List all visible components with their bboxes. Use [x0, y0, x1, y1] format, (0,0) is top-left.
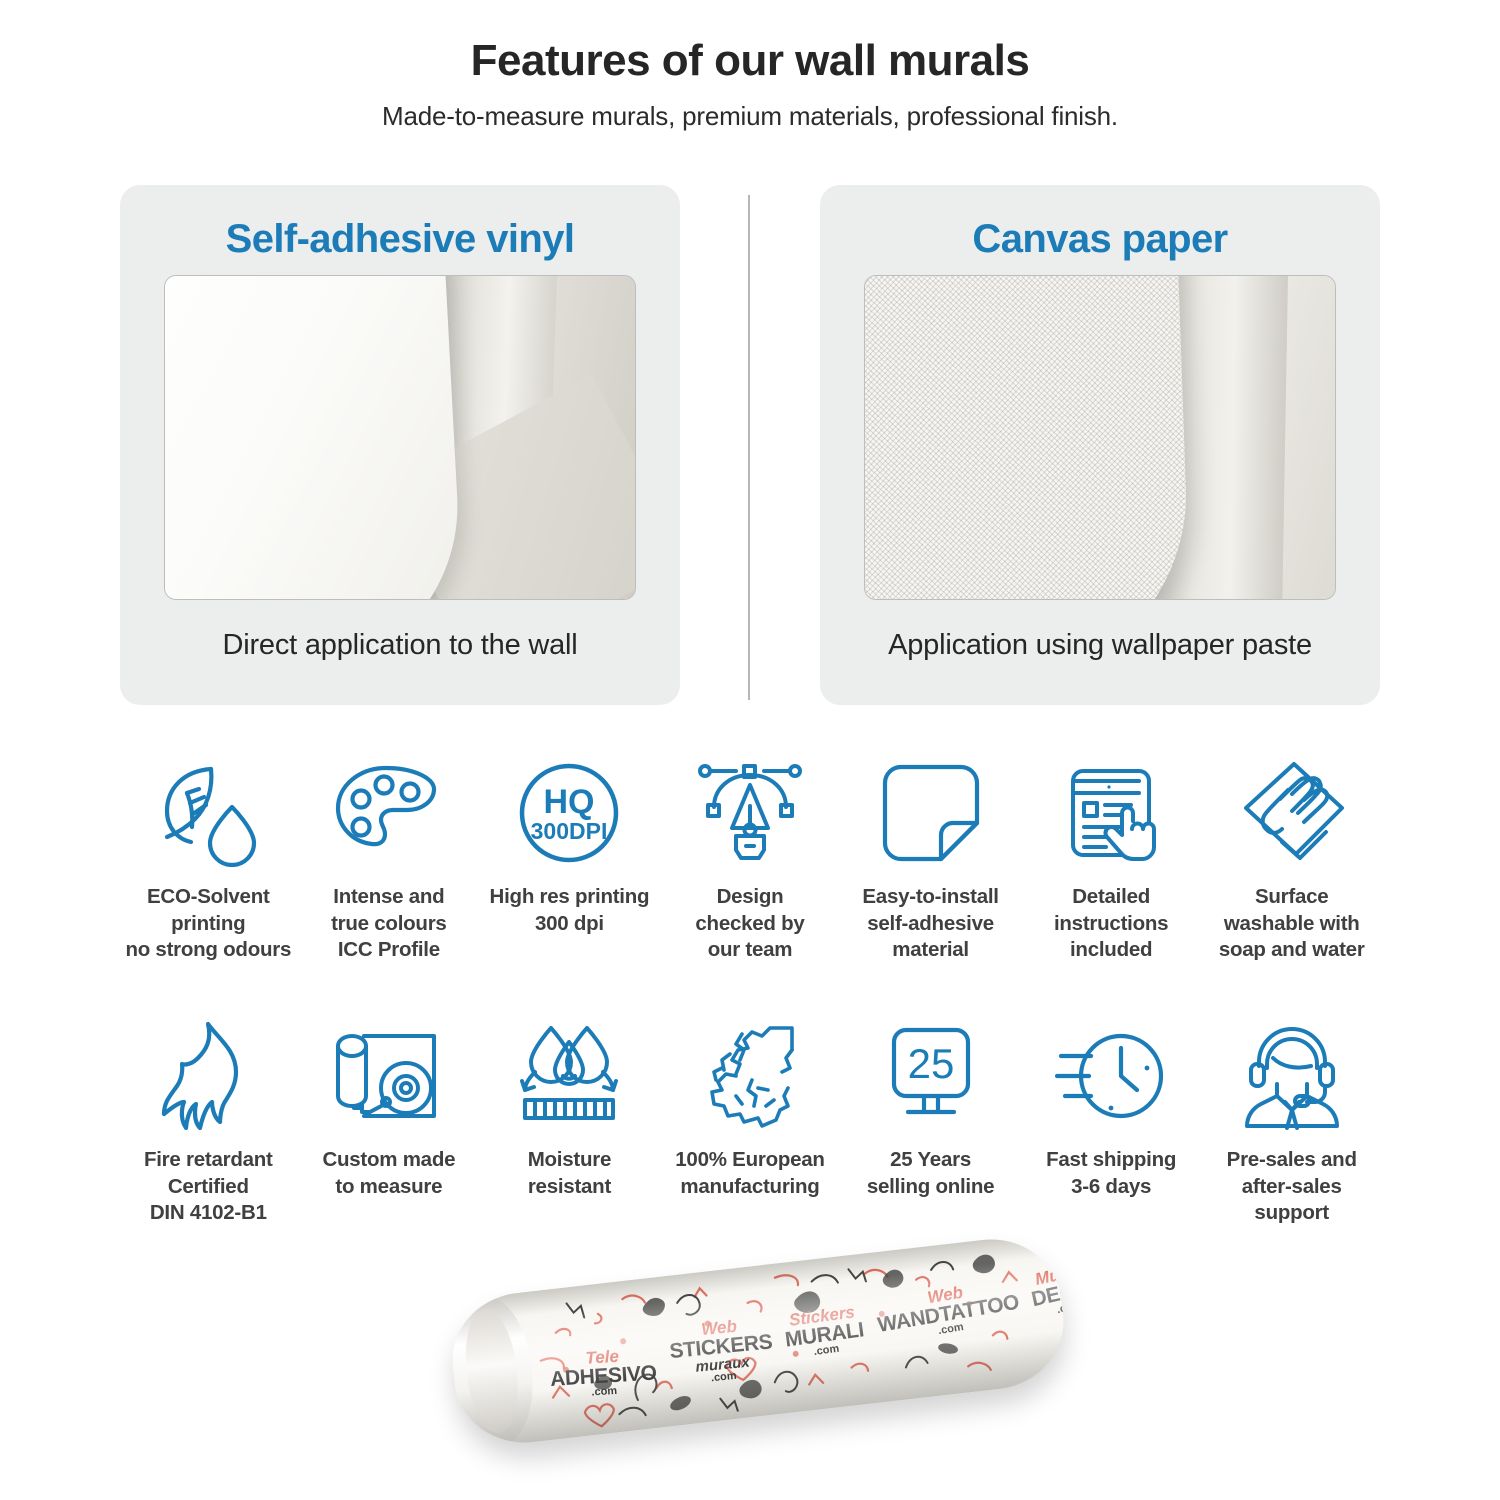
headset-agent-icon: [1239, 1015, 1345, 1137]
brand-teleadhesivo: Tele ADHESIVO .com: [548, 1345, 657, 1400]
panel-title-canvas: Canvas paper: [972, 203, 1227, 275]
feature-fast-shipping: Fast shipping 3-6 days: [1021, 1015, 1202, 1227]
feature-label: Easy-to-install self-adhesive material: [862, 884, 998, 964]
vinyl-photo: [164, 275, 636, 600]
feature-high-res: HQ 300DPI High res printing 300 dpi: [479, 752, 660, 964]
panel-self-adhesive-vinyl: Self-adhesive vinyl Direct application t…: [120, 185, 680, 705]
feature-label: ECO-Solvent printing no strong odours: [125, 884, 291, 964]
feature-eco-solvent: ECO-Solvent printing no strong odours: [118, 752, 299, 964]
fast-clock-icon: [1055, 1015, 1167, 1137]
feature-support: Pre-sales and after-sales support: [1201, 1015, 1382, 1227]
europe-map-icon: [696, 1015, 804, 1137]
feature-label: Custom made to measure: [322, 1147, 455, 1200]
canvas-photo: [864, 275, 1336, 600]
feature-easy-install: Easy-to-install self-adhesive material: [840, 752, 1021, 964]
page-header: Features of our wall murals Made-to-meas…: [0, 0, 1500, 132]
water-drops-repel-icon: [513, 1015, 625, 1137]
leaf-droplet-icon: [153, 752, 263, 874]
years-badge-number: 25: [907, 1040, 954, 1087]
feature-grid-row-2: Fire retardant Certified DIN 4102-B1 Cus…: [118, 1015, 1382, 1227]
feature-25-years: 25 25 Years selling online: [840, 1015, 1021, 1227]
page-title: Features of our wall murals: [0, 36, 1500, 87]
brand-murals-decal: Murals DECAL .com: [1026, 1257, 1071, 1320]
feature-label: Fire retardant Certified DIN 4102-B1: [144, 1147, 273, 1227]
feature-fire-retardant: Fire retardant Certified DIN 4102-B1: [118, 1015, 299, 1227]
feature-label: Design checked by our team: [695, 884, 804, 964]
feature-label: Pre-sales and after-sales support: [1227, 1147, 1357, 1227]
product-tube-section: Tele ADHESIVO .com Web STICKERS muraux .…: [0, 1248, 1500, 1488]
roll-tape-measure-icon: [334, 1015, 444, 1137]
panel-divider: [748, 195, 750, 700]
feature-moisture-resistant: Moisture resistant: [479, 1015, 660, 1227]
peeling-sticker-icon: [879, 752, 983, 874]
hq-badge-top: HQ: [544, 783, 595, 821]
feature-true-colours: Intense and true colours ICC Profile: [299, 752, 480, 964]
tube-brand-logos: Tele ADHESIVO .com Web STICKERS muraux .…: [445, 1232, 1070, 1450]
feature-custom-made: Custom made to measure: [299, 1015, 480, 1227]
panel-caption-canvas: Application using wallpaper paste: [868, 626, 1332, 664]
brand-wandtattoo: Web WANDTATTOO .com: [873, 1274, 1022, 1346]
feature-label: Fast shipping 3-6 days: [1046, 1147, 1176, 1200]
pen-nib-bezier-icon: [694, 752, 806, 874]
feature-label: 25 Years selling online: [867, 1147, 995, 1200]
feature-label: Surface washable with soap and water: [1219, 884, 1365, 964]
feature-washable: Surface washable with soap and water: [1201, 752, 1382, 964]
paint-palette-icon: [331, 752, 447, 874]
brand-stickers-murali: Stickers MURALI .com: [782, 1302, 867, 1361]
instructions-hand-icon: [1057, 752, 1165, 874]
feature-label: High res printing 300 dpi: [490, 884, 650, 937]
monitor-25-icon: 25: [876, 1015, 986, 1137]
feature-label: Intense and true colours ICC Profile: [331, 884, 446, 964]
hq-badge-bottom: 300DPI: [531, 818, 608, 844]
feature-label: Moisture resistant: [528, 1147, 611, 1200]
feature-label: Detailed instructions included: [1054, 884, 1168, 964]
panel-title-vinyl: Self-adhesive vinyl: [226, 203, 575, 275]
hand-wiping-cloth-icon: [1236, 752, 1348, 874]
panel-caption-vinyl: Direct application to the wall: [202, 626, 597, 664]
feature-instructions: Detailed instructions included: [1021, 752, 1202, 964]
feature-european-manufacturing: 100% European manufacturing: [660, 1015, 841, 1227]
hq-300dpi-badge-icon: HQ 300DPI: [515, 752, 623, 874]
page-subtitle: Made-to-measure murals, premium material…: [0, 101, 1500, 132]
feature-design-checked: Design checked by our team: [660, 752, 841, 964]
canvas-sheet-shape: [864, 275, 1193, 600]
material-comparison: Self-adhesive vinyl Direct application t…: [120, 185, 1380, 705]
flame-icon: [158, 1015, 258, 1137]
vinyl-sheet-shape: [164, 275, 466, 600]
product-tube: Tele ADHESIVO .com Web STICKERS muraux .…: [445, 1232, 1070, 1450]
feature-label: 100% European manufacturing: [675, 1147, 824, 1200]
brand-stickers-muraux: Web STICKERS muraux .com: [666, 1314, 775, 1388]
feature-infographic-page: Features of our wall murals Made-to-meas…: [0, 0, 1500, 1500]
feature-grid-row-1: ECO-Solvent printing no strong odours In…: [118, 752, 1382, 964]
panel-canvas-paper: Canvas paper Application using wallpaper…: [820, 185, 1380, 705]
